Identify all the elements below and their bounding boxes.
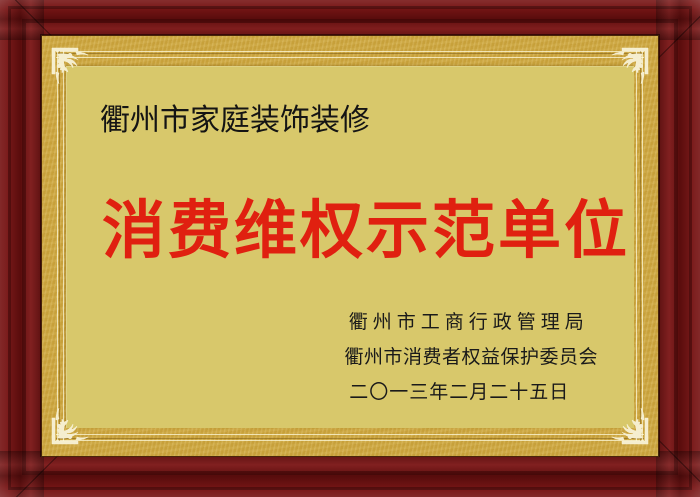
pinstripe-right-inner xyxy=(636,50,637,442)
pinstripe-bottom-outer xyxy=(56,440,644,441)
pinstripe-left-shadow xyxy=(59,50,60,442)
pinstripe-bottom-inner xyxy=(56,434,644,435)
pinstripe-left-inner xyxy=(63,50,64,442)
award-plaque: 衢州市家庭装饰装修 消费维权示范单位 衢州市工商行政管理局 衢州市消费者权益保护… xyxy=(0,0,700,497)
pinstripe-right-outer xyxy=(642,50,643,442)
pinstripe-right-shadow xyxy=(640,50,641,442)
pinstripe-top-outer xyxy=(56,51,644,52)
inner-field-panel xyxy=(66,66,634,428)
pinstripe-top-shadow xyxy=(56,53,644,54)
gold-plate xyxy=(42,36,658,456)
pinstripe-top-inner xyxy=(56,57,644,58)
pinstripe-left-outer xyxy=(57,50,58,442)
pinstripe-bottom-shadow xyxy=(56,438,644,439)
